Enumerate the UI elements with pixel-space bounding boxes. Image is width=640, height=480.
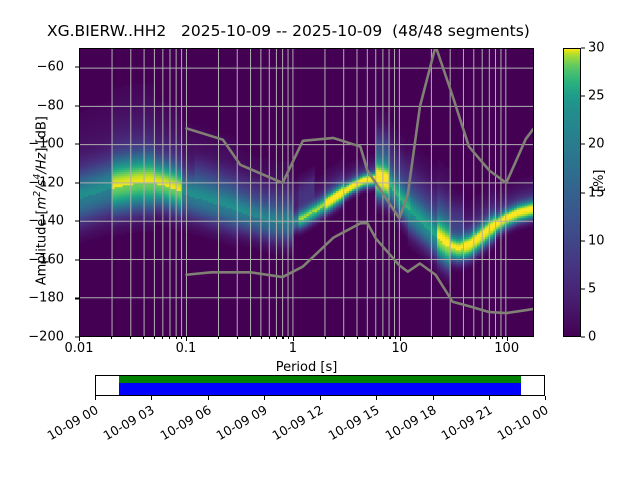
colorbar-tick-mark <box>581 192 585 193</box>
x-minor-tick-mark <box>269 337 270 339</box>
y-tick-label: −160 <box>0 252 71 267</box>
y-tick-mark <box>75 259 79 260</box>
colorbar-tick-mark <box>581 144 585 145</box>
colorbar[interactable] <box>563 48 581 337</box>
x-axis-label: Period [s] <box>79 360 534 375</box>
x-minor-tick-mark <box>325 337 326 339</box>
x-minor-tick-mark <box>464 337 465 339</box>
colorbar-tick-label: 10 <box>588 233 605 248</box>
coverage-segment-primary <box>119 376 521 383</box>
x-minor-tick-mark <box>389 337 390 339</box>
x-minor-tick-mark <box>475 337 476 339</box>
colorbar-tick-label: 20 <box>588 137 605 152</box>
coverage-tick-label: 10-09 00 <box>45 402 101 443</box>
x-minor-tick-mark <box>143 337 144 339</box>
colorbar-tick-label: 30 <box>588 41 605 56</box>
x-minor-tick-mark <box>496 337 497 339</box>
x-tick-label: 0.1 <box>176 341 197 356</box>
y-tick-label: −120 <box>0 175 71 190</box>
ppsd-canvas <box>80 49 533 336</box>
colorbar-label: [%] <box>592 170 607 193</box>
x-minor-tick-mark <box>176 337 177 339</box>
colorbar-tick-mark <box>581 288 585 289</box>
y-tick-label: −200 <box>0 330 71 345</box>
colorbar-tick-label: 0 <box>588 330 596 345</box>
coverage-tick-label: 10-09 21 <box>438 402 494 443</box>
x-tick-label: 100 <box>494 341 519 356</box>
y-tick-mark <box>75 67 79 68</box>
colorbar-tick-mark <box>581 337 585 338</box>
x-minor-tick-mark <box>282 337 283 339</box>
x-minor-tick-mark <box>162 337 163 339</box>
coverage-tick-label: 10-09 15 <box>326 402 382 443</box>
coverage-tick-label: 10-10 00 <box>495 402 551 443</box>
ppsd-plot-area[interactable] <box>79 48 534 337</box>
coverage-tick-mark <box>376 396 377 400</box>
x-tick-label: 1 <box>289 341 297 356</box>
page-title: XG.BIERW..HH2 2025-10-09 -- 2025-10-09 (… <box>47 22 530 40</box>
x-minor-tick-mark <box>218 337 219 339</box>
coverage-tick-mark <box>151 396 152 400</box>
x-tick-label: 0.01 <box>65 341 94 356</box>
x-minor-tick-mark <box>344 337 345 339</box>
y-tick-label: −80 <box>0 98 71 113</box>
colorbar-tick-mark <box>581 240 585 241</box>
coverage-tick-mark <box>208 396 209 400</box>
x-minor-tick-mark <box>181 337 182 339</box>
x-minor-tick-mark <box>288 337 289 339</box>
data-coverage-bar[interactable] <box>95 375 545 396</box>
y-tick-label: −180 <box>0 291 71 306</box>
x-minor-tick-mark <box>376 337 377 339</box>
coverage-segment-secondary <box>119 383 521 395</box>
coverage-tick-mark <box>264 396 265 400</box>
x-minor-tick-mark <box>357 337 358 339</box>
y-tick-label: −140 <box>0 214 71 229</box>
y-tick-mark <box>75 182 79 183</box>
x-minor-tick-mark <box>483 337 484 339</box>
x-minor-tick-mark <box>502 337 503 339</box>
y-tick-mark <box>75 105 79 106</box>
x-tick-label: 10 <box>391 341 408 356</box>
x-minor-tick-mark <box>395 337 396 339</box>
x-minor-tick-mark <box>490 337 491 339</box>
x-minor-tick-mark <box>261 337 262 339</box>
x-minor-tick-mark <box>111 337 112 339</box>
colorbar-tick-mark <box>581 96 585 97</box>
x-minor-tick-mark <box>169 337 170 339</box>
colorbar-tick-mark <box>581 48 585 49</box>
coverage-tick-label: 10-09 12 <box>270 402 326 443</box>
x-minor-tick-mark <box>432 337 433 339</box>
x-minor-tick-mark <box>383 337 384 339</box>
y-tick-label: −60 <box>0 60 71 75</box>
x-minor-tick-mark <box>276 337 277 339</box>
y-tick-label: −100 <box>0 137 71 152</box>
x-minor-tick-mark <box>154 337 155 339</box>
coverage-tick-mark <box>489 396 490 400</box>
y-tick-mark <box>75 298 79 299</box>
x-minor-tick-mark <box>250 337 251 339</box>
x-minor-tick-mark <box>451 337 452 339</box>
x-minor-tick-mark <box>368 337 369 339</box>
coverage-tick-mark <box>545 396 546 400</box>
x-minor-tick-mark <box>130 337 131 339</box>
y-axis-ticks: −60−80−100−120−140−160−180−200 <box>0 48 71 337</box>
colorbar-tick-label: 5 <box>588 281 596 296</box>
y-tick-mark <box>75 144 79 145</box>
x-minor-tick-mark <box>237 337 238 339</box>
ppsd-figure: XG.BIERW..HH2 2025-10-09 -- 2025-10-09 (… <box>0 0 640 480</box>
coverage-tick-mark <box>433 396 434 400</box>
coverage-tick-label: 10-09 06 <box>157 402 213 443</box>
y-tick-mark <box>75 221 79 222</box>
coverage-tick-mark <box>320 396 321 400</box>
coverage-tick-mark <box>95 396 96 400</box>
coverage-tick-label: 10-09 09 <box>213 402 269 443</box>
coverage-tick-label: 10-09 18 <box>382 402 438 443</box>
coverage-tick-label: 10-09 03 <box>101 402 157 443</box>
y-tick-mark <box>75 337 79 338</box>
ppsd-density-layer <box>80 83 533 284</box>
colorbar-tick-label: 25 <box>588 89 605 104</box>
